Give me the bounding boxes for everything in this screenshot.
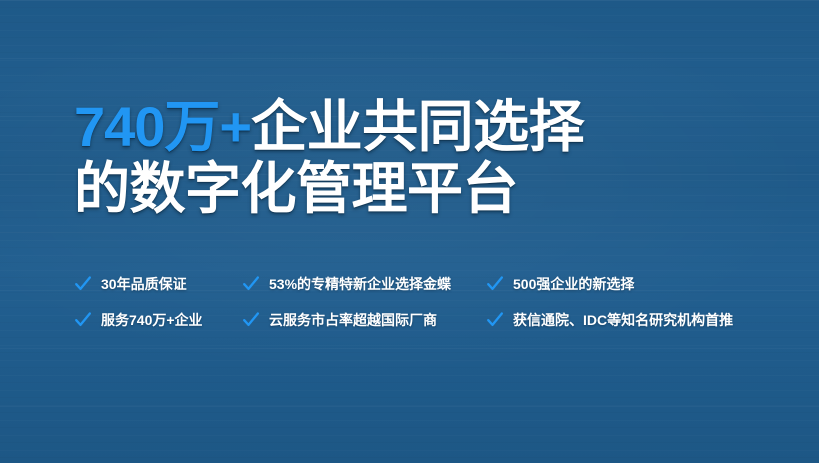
feature-row: 30年品质保证 53%的专精特新企业选择金蝶 500强企业的新选择	[74, 266, 774, 302]
promo-banner: 740万+企业共同选择 的数字化管理平台 30年品质保证 53%的专精特新企业选…	[0, 0, 819, 463]
feature-label: 30年品质保证	[101, 275, 187, 293]
feature-item: 获信通院、IDC等知名研究机构首推	[486, 311, 733, 329]
feature-list: 30年品质保证 53%的专精特新企业选择金蝶 500强企业的新选择 服务740万…	[74, 266, 774, 338]
feature-label: 53%的专精特新企业选择金蝶	[269, 275, 451, 293]
check-icon	[74, 275, 92, 293]
feature-item: 云服务市占率超越国际厂商	[242, 311, 486, 329]
feature-label: 云服务市占率超越国际厂商	[269, 311, 437, 329]
check-icon	[242, 311, 260, 329]
feature-label: 服务740万+企业	[101, 311, 203, 329]
background-sheen-overlay	[0, 0, 819, 463]
check-icon	[242, 275, 260, 293]
headline-line-1: 740万+企业共同选择	[74, 96, 774, 158]
feature-label: 500强企业的新选择	[513, 275, 634, 293]
check-icon	[486, 311, 504, 329]
feature-item: 500强企业的新选择	[486, 275, 634, 293]
headline-line-1-rest: 企业共同选择	[251, 95, 584, 158]
headline: 740万+企业共同选择 的数字化管理平台	[74, 96, 774, 220]
headline-line-2: 的数字化管理平台	[74, 158, 774, 220]
feature-item: 30年品质保证	[74, 275, 242, 293]
headline-accent-number: 740万+	[74, 95, 251, 158]
check-icon	[74, 311, 92, 329]
check-icon	[486, 275, 504, 293]
feature-row: 服务740万+企业 云服务市占率超越国际厂商 获信通院、IDC等知名研究机构首推	[74, 302, 774, 338]
feature-label: 获信通院、IDC等知名研究机构首推	[513, 311, 733, 329]
feature-item: 服务740万+企业	[74, 311, 242, 329]
background-texture-overlay	[0, 0, 819, 463]
feature-item: 53%的专精特新企业选择金蝶	[242, 275, 486, 293]
